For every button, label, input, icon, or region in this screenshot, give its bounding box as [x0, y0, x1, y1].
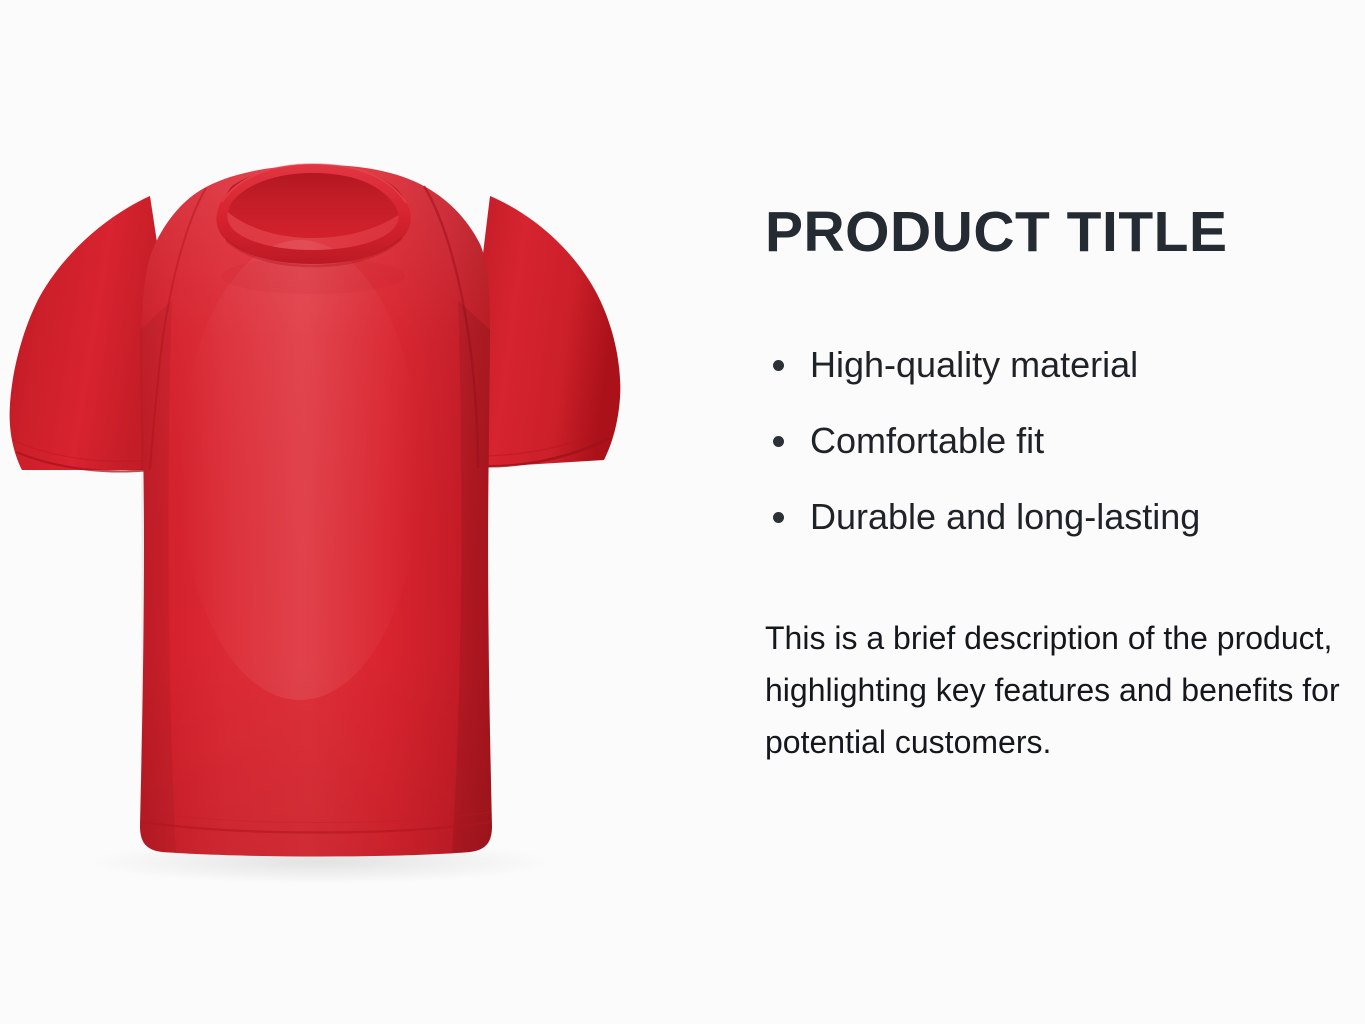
bullet-icon [773, 360, 784, 371]
bullet-icon [773, 436, 784, 447]
page-title: PRODUCT TITLE [765, 204, 1227, 261]
list-item: Durable and long-lasting [765, 497, 1325, 573]
product-description: This is a brief description of the produ… [765, 612, 1365, 768]
feature-label: High-quality material [810, 345, 1138, 385]
body-highlight [180, 240, 420, 700]
feature-label: Comfortable fit [810, 421, 1044, 461]
product-details-panel: PRODUCT TITLE High-quality material Comf… [765, 0, 1355, 1024]
feature-list: High-quality material Comfortable fit Du… [765, 345, 1325, 573]
tshirt-illustration [0, 0, 690, 1024]
left-sleeve [10, 196, 160, 470]
bullet-icon [773, 512, 784, 523]
list-item: High-quality material [765, 345, 1325, 421]
product-image-panel[interactable] [0, 0, 690, 1024]
right-sleeve [474, 196, 620, 468]
product-showcase-page: PRODUCT TITLE High-quality material Comf… [0, 0, 1365, 1024]
feature-label: Durable and long-lasting [810, 497, 1200, 537]
list-item: Comfortable fit [765, 421, 1325, 497]
